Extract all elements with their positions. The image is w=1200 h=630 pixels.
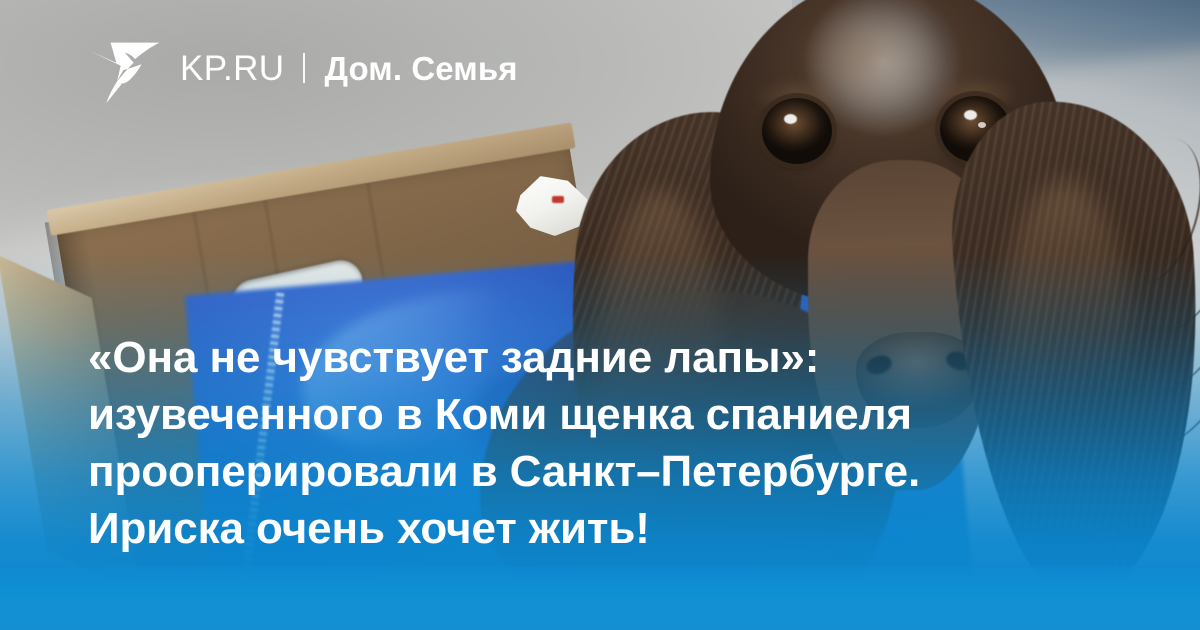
swallow-bird-icon[interactable]	[88, 34, 162, 106]
headline-line-3: прооперировали в Санкт–Петербурге.	[88, 443, 1088, 500]
social-share-card: KP.RU Дом. Семья «Она не чувствует задни…	[0, 0, 1200, 630]
brand-name[interactable]: KP.RU	[180, 51, 284, 86]
section-label[interactable]: Дом. Семья	[324, 52, 517, 85]
headline: «Она не чувствует задние лапы»: изувечен…	[88, 329, 1088, 557]
brand-separator	[303, 53, 305, 83]
brand-text-row: KP.RU Дом. Семья	[180, 51, 518, 90]
brand-header: KP.RU Дом. Семья	[88, 34, 518, 106]
headline-line-1: «Она не чувствует задние лапы»:	[88, 329, 1088, 386]
headline-line-2: изувеченного в Коми щенка спаниеля	[88, 386, 1088, 443]
headline-line-4: Ириска очень хочет жить!	[88, 500, 1088, 557]
brand-gradient-bottom	[0, 566, 1200, 630]
